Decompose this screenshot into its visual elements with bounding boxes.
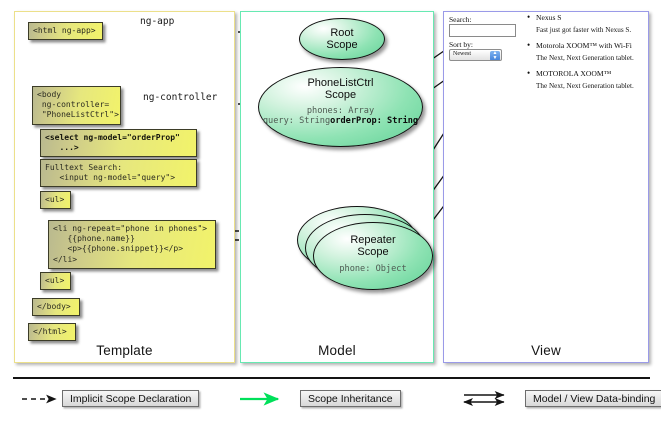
edge-label-ng-controller: ng-controller [143, 92, 217, 103]
phone-snippet: Fast just got faster with Nexus S. [527, 26, 645, 34]
scope-phonelistctrl: PhoneListCtrl Scope phones: Array query:… [258, 67, 423, 147]
code-box-fulltext-search: Fulltext Search: <input ng-model="query"… [40, 159, 197, 187]
diagram-canvas: Template <html ng-app> <body ng-controll… [0, 0, 661, 425]
sortby-selected-value: Newest [453, 51, 471, 57]
legend-label-scope-inheritance: Scope Inheritance [300, 390, 401, 407]
sortby-select[interactable]: Newest ▲▼ [449, 49, 502, 61]
code-box-body-close: </body> [32, 298, 80, 316]
phone-snippet: The Next, Next Generation tablet. [527, 54, 645, 62]
scope-prop-orderprop: orderProp: String [330, 116, 418, 126]
scope-root-title: Root Scope [326, 27, 357, 52]
scope-repeater-props: phone: Object [314, 264, 432, 275]
code-box-select: <select ng-model="orderProp" ...> [40, 129, 197, 157]
panel-template-label: Template [15, 343, 234, 358]
code-box-html-close: </html> [28, 323, 76, 341]
scope-root: Root Scope [299, 18, 385, 60]
legend-divider [13, 377, 650, 379]
panel-model-label: Model [241, 343, 433, 358]
list-item: Nexus S Fast just got faster with Nexus … [527, 13, 645, 34]
view-content: Search: Sort by: Newest ▲▼ Nexus S Fast … [449, 15, 645, 125]
panel-view-label: View [444, 343, 648, 358]
panel-model: Model [240, 11, 434, 363]
scope-phonelistctrl-title: PhoneListCtrl Scope [259, 77, 422, 102]
phone-name: Nexus S [527, 13, 645, 22]
code-box-ul-open: <ul> [40, 191, 71, 209]
scope-repeater-title: Repeater Scope [314, 234, 432, 259]
code-box-html: <html ng-app> [28, 22, 103, 40]
chevron-updown-icon: ▲▼ [490, 51, 500, 61]
legend-label-implicit-scope: Implicit Scope Declaration [62, 390, 199, 407]
code-box-body: <body ng-controller= "PhoneListCtrl"> [32, 86, 121, 125]
phone-list: Nexus S Fast just got faster with Nexus … [527, 13, 645, 97]
search-input[interactable] [449, 24, 516, 37]
code-box-ul-close: <ul> [40, 272, 71, 290]
scope-phonelistctrl-props: phones: Array query: StringorderProp: St… [259, 106, 422, 127]
edge-label-ng-app: ng-app [140, 16, 174, 27]
legend-label-data-binding: Model / View Data-binding [525, 390, 661, 407]
search-label: Search: [449, 15, 472, 24]
green-arrow-icon [238, 390, 296, 407]
scope-repeater: Repeater Scope phone: Object [313, 222, 433, 290]
double-arrow-icon [462, 390, 520, 407]
sortby-label: Sort by: [449, 40, 473, 49]
phone-name: MOTOROLA XOOM™ [527, 69, 645, 78]
code-box-li-ng-repeat: <li ng-repeat="phone in phones"> {{phone… [48, 220, 216, 269]
phone-name: Motorola XOOM™ with Wi-Fi [527, 41, 645, 50]
legend: Implicit Scope Declaration Scope Inherit… [0, 372, 661, 425]
list-item: MOTOROLA XOOM™ The Next, Next Generation… [527, 69, 645, 90]
phone-snippet: The Next, Next Generation tablet. [527, 82, 645, 90]
list-item: Motorola XOOM™ with Wi-Fi The Next, Next… [527, 41, 645, 62]
